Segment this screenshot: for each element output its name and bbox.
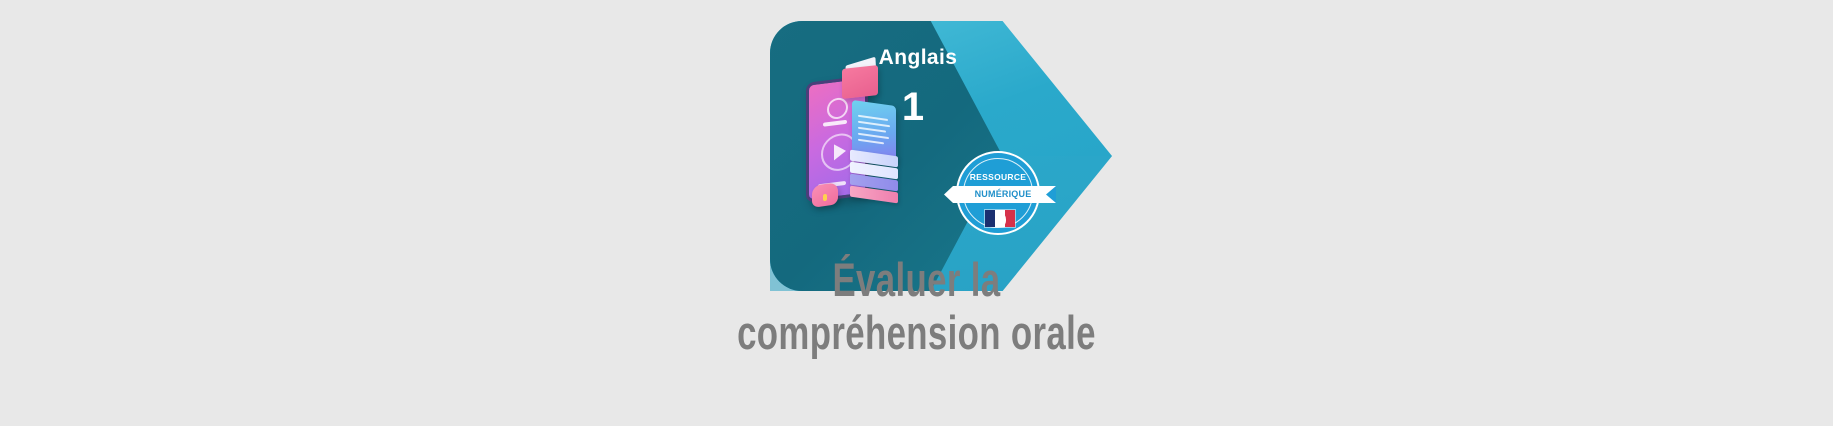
page-root: Anglais 1 RESSOURCE NUMÉRIQUE Évaluer la… (0, 0, 1833, 426)
marianne-icon (997, 213, 1006, 226)
resource-card[interactable]: Anglais 1 RESSOURCE NUMÉRIQUE (770, 21, 1112, 291)
ressource-numerique-badge: RESSOURCE NUMÉRIQUE (956, 151, 1040, 235)
badge-ribbon-text: NUMÉRIQUE (944, 189, 1056, 199)
mouse-icon (812, 182, 838, 208)
card-illustration (794, 61, 904, 226)
badge-ribbon: NUMÉRIQUE (944, 186, 1056, 203)
subject-label: Anglais (770, 46, 1112, 70)
badge-top-text: RESSOURCE (958, 172, 1038, 182)
card-shape: Anglais 1 RESSOURCE NUMÉRIQUE (770, 21, 1112, 291)
french-flag-icon (984, 209, 1016, 228)
books-icon (850, 153, 900, 205)
level-number: 1 (770, 87, 1112, 127)
page-title: Évaluer la compréhension orale (238, 253, 1594, 359)
